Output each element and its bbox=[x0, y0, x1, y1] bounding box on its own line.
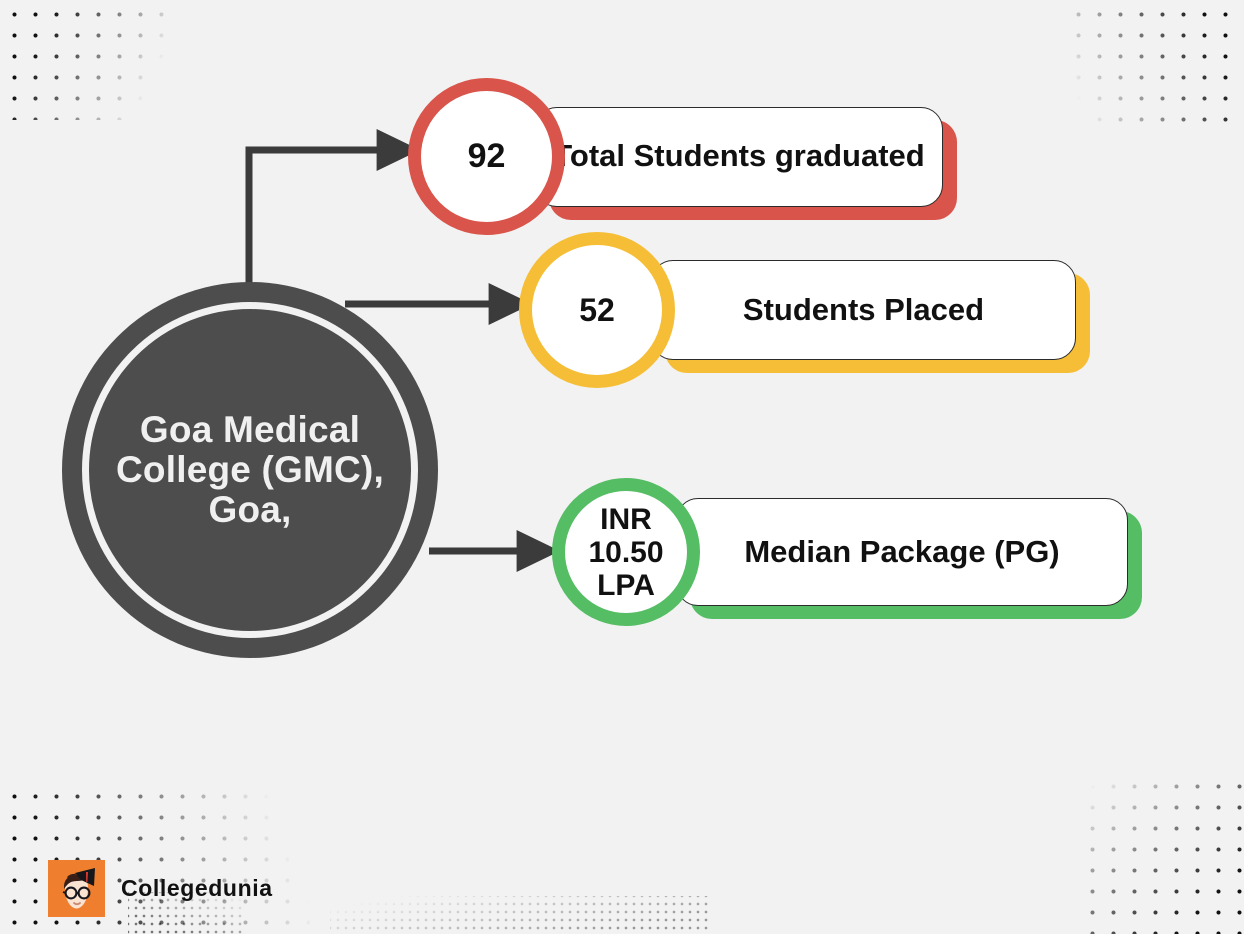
dot-pattern-top-left bbox=[0, 0, 170, 120]
dot-pattern-top-right bbox=[1064, 0, 1244, 122]
metric-row-total-students-graduated: 92 Total Students graduated bbox=[408, 78, 943, 235]
graduate-student-avatar-icon bbox=[48, 860, 105, 917]
central-node-label: Goa Medical College (GMC), Goa, bbox=[105, 410, 395, 530]
metric-value-bubble-2: 52 bbox=[519, 232, 675, 388]
metric-card-3: Median Package (PG) bbox=[676, 498, 1128, 606]
central-node-college: Goa Medical College (GMC), Goa, bbox=[62, 282, 438, 658]
connector-arrow-1 bbox=[249, 150, 385, 305]
metric-card-wrap-3: Median Package (PG) bbox=[676, 498, 1128, 606]
metric-row-students-placed: 52 Students Placed bbox=[519, 232, 1076, 388]
metric-row-median-package-pg: INR 10.50 LPA Median Package (PG) bbox=[552, 478, 1128, 626]
metric-card-2: Students Placed bbox=[651, 260, 1076, 360]
dot-pattern-logo-right bbox=[330, 896, 710, 934]
collegedunia-wordmark: Collegedunia bbox=[121, 875, 273, 902]
metric-value-bubble-1: 92 bbox=[408, 78, 565, 235]
metric-card-wrap-2: Students Placed bbox=[651, 260, 1076, 360]
metric-card-wrap-1: Total Students graduated bbox=[535, 107, 943, 207]
metric-card-1: Total Students graduated bbox=[535, 107, 943, 207]
collegedunia-logo: Collegedunia bbox=[48, 860, 273, 917]
metric-value-bubble-3: INR 10.50 LPA bbox=[552, 478, 700, 626]
dot-pattern-bottom-right bbox=[1078, 772, 1244, 934]
